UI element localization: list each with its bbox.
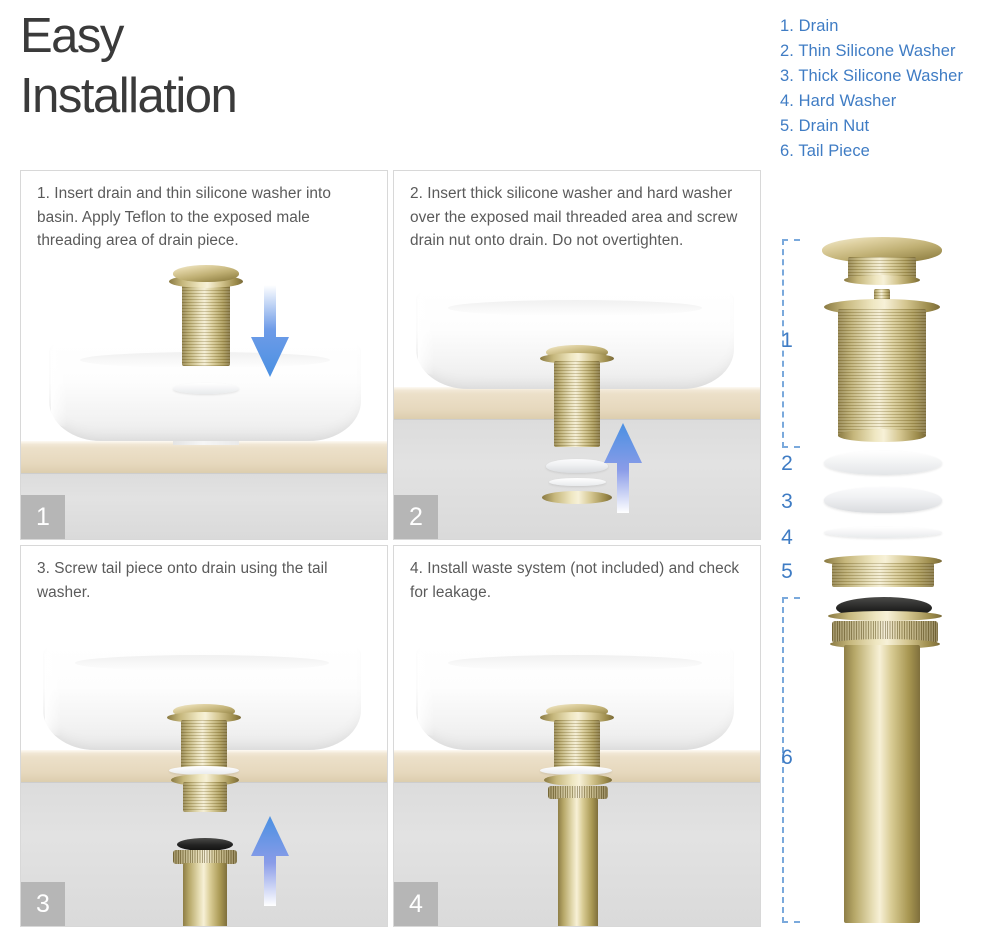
legend-item-drain-nut: 5. Drain Nut bbox=[780, 114, 990, 139]
drain-shaft bbox=[554, 720, 600, 772]
thick-silicone-washer bbox=[546, 459, 608, 473]
cabinet bbox=[21, 473, 387, 539]
arrow-up-icon bbox=[602, 423, 644, 513]
legend-item-drain: 1. Drain bbox=[780, 14, 990, 39]
step-panel-1: 1. Insert drain and thin silicone washer… bbox=[20, 170, 388, 540]
drain-shaft-end bbox=[838, 429, 926, 442]
hard-washer bbox=[549, 478, 606, 486]
tail-piece-tube bbox=[183, 863, 227, 926]
step-badge-1: 1 bbox=[21, 495, 65, 539]
drain-cap bbox=[173, 265, 239, 282]
step-badge-2: 2 bbox=[394, 495, 438, 539]
drain-cap-lip bbox=[844, 275, 920, 285]
step-4-illustration bbox=[394, 616, 760, 926]
tail-washer-lip bbox=[828, 611, 942, 621]
step-panel-2: 2. Insert thick silicone washer and hard… bbox=[393, 170, 761, 540]
exploded-parts-diagram: 1 2 3 4 5 6 bbox=[770, 225, 990, 935]
step-panel-4: 4. Install waste system (not included) a… bbox=[393, 545, 761, 927]
step-badge-4: 4 bbox=[394, 882, 438, 926]
tail-collar bbox=[173, 850, 237, 864]
legend-item-tail-piece: 6. Tail Piece bbox=[780, 139, 990, 164]
step-2-illustration bbox=[394, 263, 760, 539]
step-1-illustration bbox=[21, 263, 387, 539]
arrow-up-icon bbox=[249, 816, 291, 906]
legend-item-thick-silicone-washer: 3. Thick Silicone Washer bbox=[780, 64, 990, 89]
drain-nut bbox=[544, 774, 612, 786]
thick-silicone-washer bbox=[824, 487, 942, 513]
step-3-instruction: 3. Screw tail piece onto drain using the… bbox=[37, 557, 373, 604]
tail-piece-tube bbox=[844, 645, 920, 923]
hard-washer bbox=[824, 527, 942, 538]
callout-4: 4 bbox=[776, 527, 798, 548]
callout-1: 1 bbox=[776, 330, 798, 351]
page-title: Easy Installation bbox=[20, 6, 440, 126]
arrow-down-icon bbox=[249, 285, 291, 381]
drain-shaft bbox=[182, 281, 230, 366]
callout-2: 2 bbox=[776, 453, 798, 474]
callout-5: 5 bbox=[776, 561, 798, 582]
drain-nut-body bbox=[183, 782, 227, 812]
callout-6: 6 bbox=[776, 747, 798, 768]
countertop bbox=[21, 441, 387, 473]
legend-item-hard-washer: 4. Hard Washer bbox=[780, 89, 990, 114]
step-2-instruction: 2. Insert thick silicone washer and hard… bbox=[410, 182, 746, 253]
callout-3: 3 bbox=[776, 491, 798, 512]
drain-threaded-shaft bbox=[838, 309, 926, 437]
step-3-illustration bbox=[21, 616, 387, 926]
parts-legend: 1. Drain 2. Thin Silicone Washer 3. Thic… bbox=[780, 14, 990, 164]
step-panel-3: 3. Screw tail piece onto drain using the… bbox=[20, 545, 388, 927]
thin-silicone-washer bbox=[173, 383, 239, 394]
thin-silicone-washer bbox=[824, 451, 942, 475]
step-1-instruction: 1. Insert drain and thin silicone washer… bbox=[37, 182, 373, 253]
drain-shaft bbox=[554, 361, 600, 447]
step-badge-3: 3 bbox=[21, 882, 65, 926]
tail-piece-tube bbox=[558, 798, 598, 926]
legend-item-thin-silicone-washer: 2. Thin Silicone Washer bbox=[780, 39, 990, 64]
step-4-instruction: 4. Install waste system (not included) a… bbox=[410, 557, 746, 604]
drain-shaft bbox=[181, 720, 227, 772]
drain-nut-body bbox=[832, 563, 934, 587]
